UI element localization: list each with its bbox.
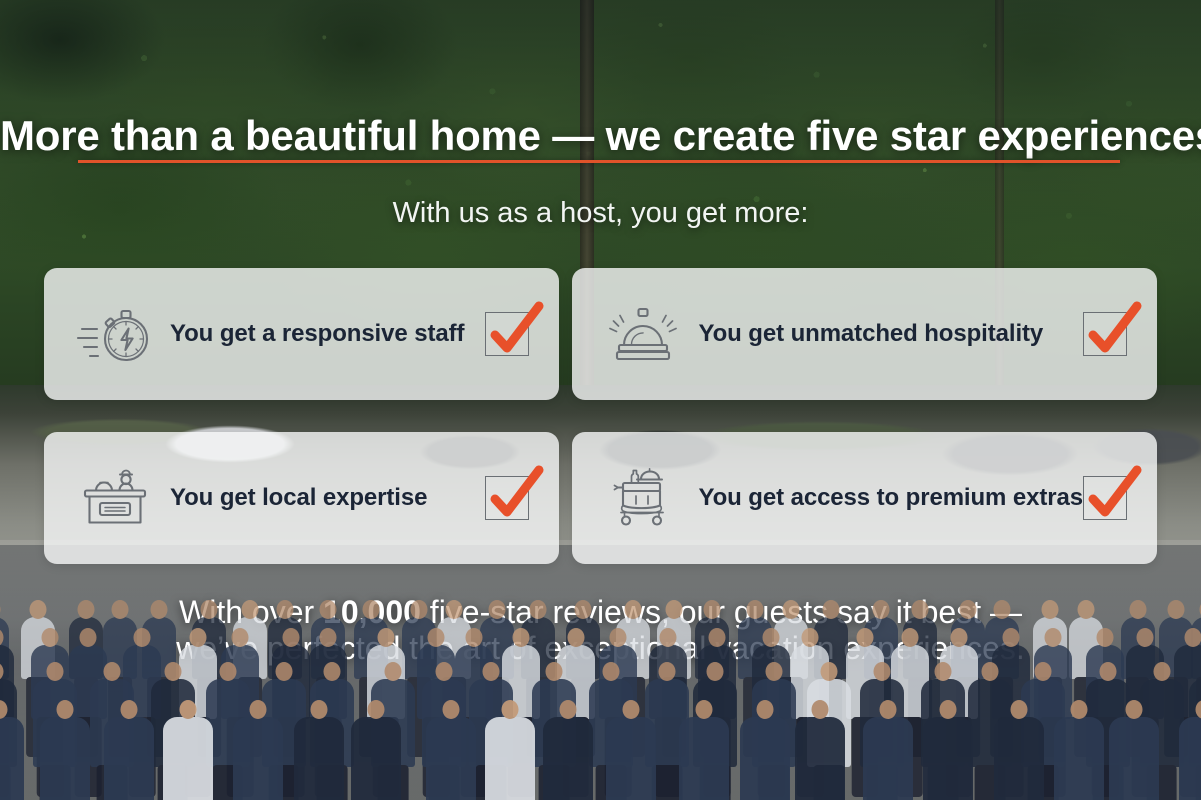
check-icon bbox=[1082, 467, 1144, 529]
crowd-person bbox=[351, 717, 401, 800]
benefit-checkbox[interactable] bbox=[1083, 476, 1127, 520]
title-underline-accent bbox=[78, 160, 1120, 163]
stopwatch-bolt-icon bbox=[74, 298, 156, 370]
crowd-person bbox=[1179, 717, 1201, 800]
subtitle: With us as a host, you get more: bbox=[0, 197, 1201, 230]
benefit-card-unmatched-hospitality[interactable]: You get unmatched hospitality bbox=[572, 268, 1157, 400]
benefit-label: You get a responsive staff bbox=[156, 320, 485, 348]
crowd-person bbox=[923, 717, 973, 800]
crowd-person bbox=[233, 717, 283, 800]
benefit-card-responsive-staff[interactable]: You get a responsive staff bbox=[44, 268, 559, 400]
benefit-checkbox[interactable] bbox=[485, 312, 529, 356]
benefit-card-premium-extras[interactable]: You get access to premium extras bbox=[572, 432, 1157, 564]
crowd-person bbox=[426, 717, 476, 800]
benefit-label: You get unmatched hospitality bbox=[684, 320, 1083, 348]
service-bell-icon bbox=[602, 298, 684, 370]
benefits-grid: You get a responsive staff bbox=[44, 268, 1157, 564]
crowd-person bbox=[163, 717, 213, 800]
crowd-person bbox=[740, 717, 790, 800]
crowd-person bbox=[485, 717, 535, 800]
crowd-person bbox=[1054, 717, 1104, 800]
closing-line-1: With over 10,000 five-star reviews, our … bbox=[0, 594, 1201, 630]
crowd-person bbox=[863, 717, 913, 800]
concierge-desk-icon bbox=[74, 462, 156, 534]
page-title: More than a beautiful home — we create f… bbox=[0, 112, 1201, 160]
benefit-checkbox[interactable] bbox=[485, 476, 529, 520]
crowd-person bbox=[1109, 717, 1159, 800]
hero-slide: More than a beautiful home — we create f… bbox=[0, 0, 1201, 800]
check-icon bbox=[1082, 303, 1144, 365]
check-icon bbox=[484, 467, 546, 529]
room-service-cart-icon bbox=[602, 462, 684, 534]
crowd-person bbox=[40, 717, 90, 800]
crowd-person bbox=[994, 717, 1044, 800]
benefit-checkbox[interactable] bbox=[1083, 312, 1127, 356]
crowd-person bbox=[606, 717, 656, 800]
crowd-person bbox=[0, 717, 24, 800]
crowd-person bbox=[679, 717, 729, 800]
benefit-label: You get access to premium extras bbox=[684, 484, 1083, 512]
crowd-person bbox=[294, 717, 344, 800]
crowd-person bbox=[795, 717, 845, 800]
benefit-label: You get local expertise bbox=[156, 484, 485, 512]
benefit-card-local-expertise[interactable]: You get local expertise bbox=[44, 432, 559, 564]
crowd-person bbox=[104, 717, 154, 800]
crowd-person bbox=[543, 717, 593, 800]
check-icon bbox=[484, 303, 546, 365]
